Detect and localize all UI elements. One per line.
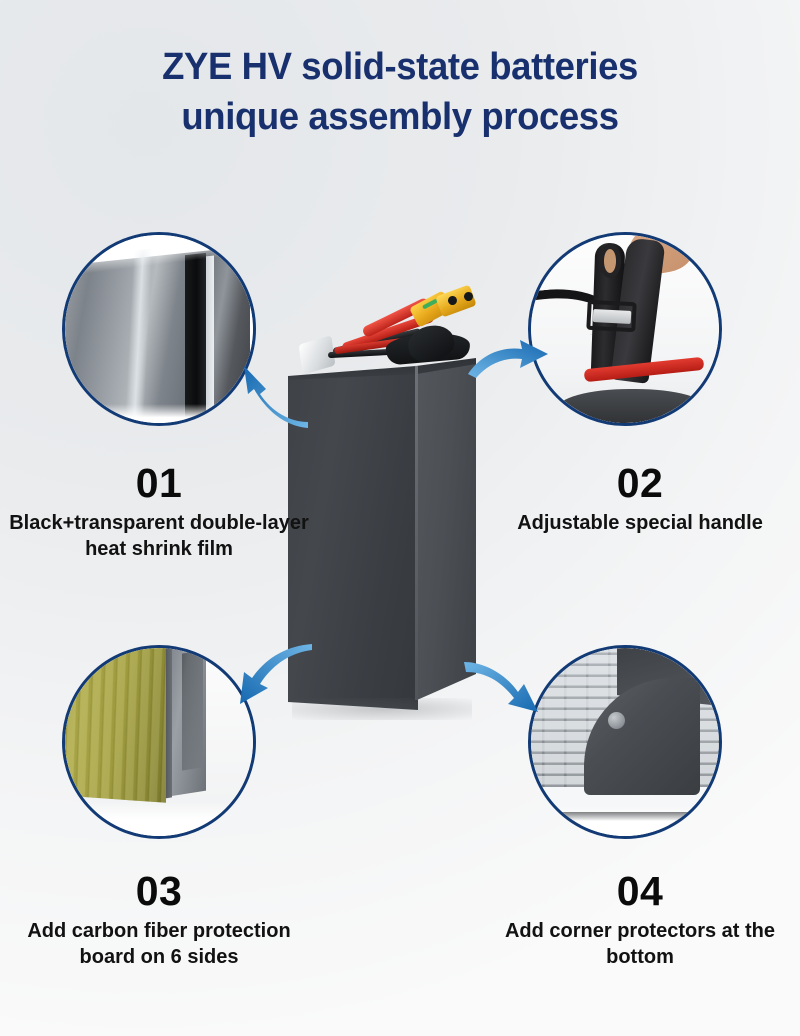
carbon-fiber-panel — [65, 648, 167, 802]
feature-caption-04: 04 Add corner protectors at the bottom — [490, 868, 790, 970]
feature-number-01: 01 — [9, 460, 309, 506]
arrow-3-path — [240, 644, 312, 704]
film-black-layer — [185, 253, 206, 423]
battery-top-plate — [557, 389, 707, 423]
carbon-fiber-bottom-fade — [65, 802, 253, 836]
title-line-2: unique assembly process — [16, 92, 784, 142]
arrow-to-feature-02 — [466, 322, 552, 386]
feature-caption-01: 01 Black+transparent double-layer heat s… — [9, 460, 309, 562]
battery-ground-shadow — [292, 698, 472, 720]
film-bottom-fade — [65, 404, 253, 423]
arrow-to-feature-03 — [232, 644, 316, 718]
arrow-to-feature-01 — [232, 360, 310, 430]
battery-pack-image — [288, 358, 476, 710]
feature-number-03: 03 — [9, 868, 309, 914]
feature-caption-02: 02 Adjustable special handle — [490, 460, 790, 536]
corner-protector-bottom-fade — [531, 806, 719, 836]
film-edge-highlight — [206, 255, 214, 423]
feature-photo-circle-03 — [62, 645, 256, 839]
feature-description-03: Add carbon fiber protection board on 6 s… — [9, 918, 309, 970]
feature-photo-circle-04 — [528, 645, 722, 839]
infographic-page: ZYE HV solid-state batteries unique asse… — [0, 0, 800, 1036]
feature-description-01: Black+transparent double-layer heat shri… — [9, 510, 309, 562]
feature-photo-circle-01 — [62, 232, 256, 426]
feature-description-04: Add corner protectors at the bottom — [490, 918, 790, 970]
carbon-fiber-board-photo — [65, 648, 253, 836]
strap-buckle-bar — [593, 309, 631, 324]
page-title: ZYE HV solid-state batteries unique asse… — [0, 42, 800, 142]
title-line-1: ZYE HV solid-state batteries — [16, 42, 784, 92]
feature-number-02: 02 — [490, 460, 790, 506]
corner-protector-photo — [531, 648, 719, 836]
box-inner-shadow — [182, 650, 203, 770]
arrow-to-feature-04 — [462, 648, 554, 718]
handle-strap-photo — [531, 235, 719, 423]
arrow-4-path — [464, 662, 538, 712]
feature-photo-circle-02 — [528, 232, 722, 426]
heat-shrink-film-photo — [65, 235, 253, 423]
feature-number-04: 04 — [490, 868, 790, 914]
feature-description-02: Adjustable special handle — [490, 510, 790, 536]
screw-hole-icon — [608, 712, 625, 729]
feature-caption-03: 03 Add carbon fiber protection board on … — [9, 868, 309, 970]
battery-vertical-edge — [415, 366, 418, 700]
arrow-1-path — [244, 366, 308, 428]
arrow-2-path — [468, 340, 548, 378]
